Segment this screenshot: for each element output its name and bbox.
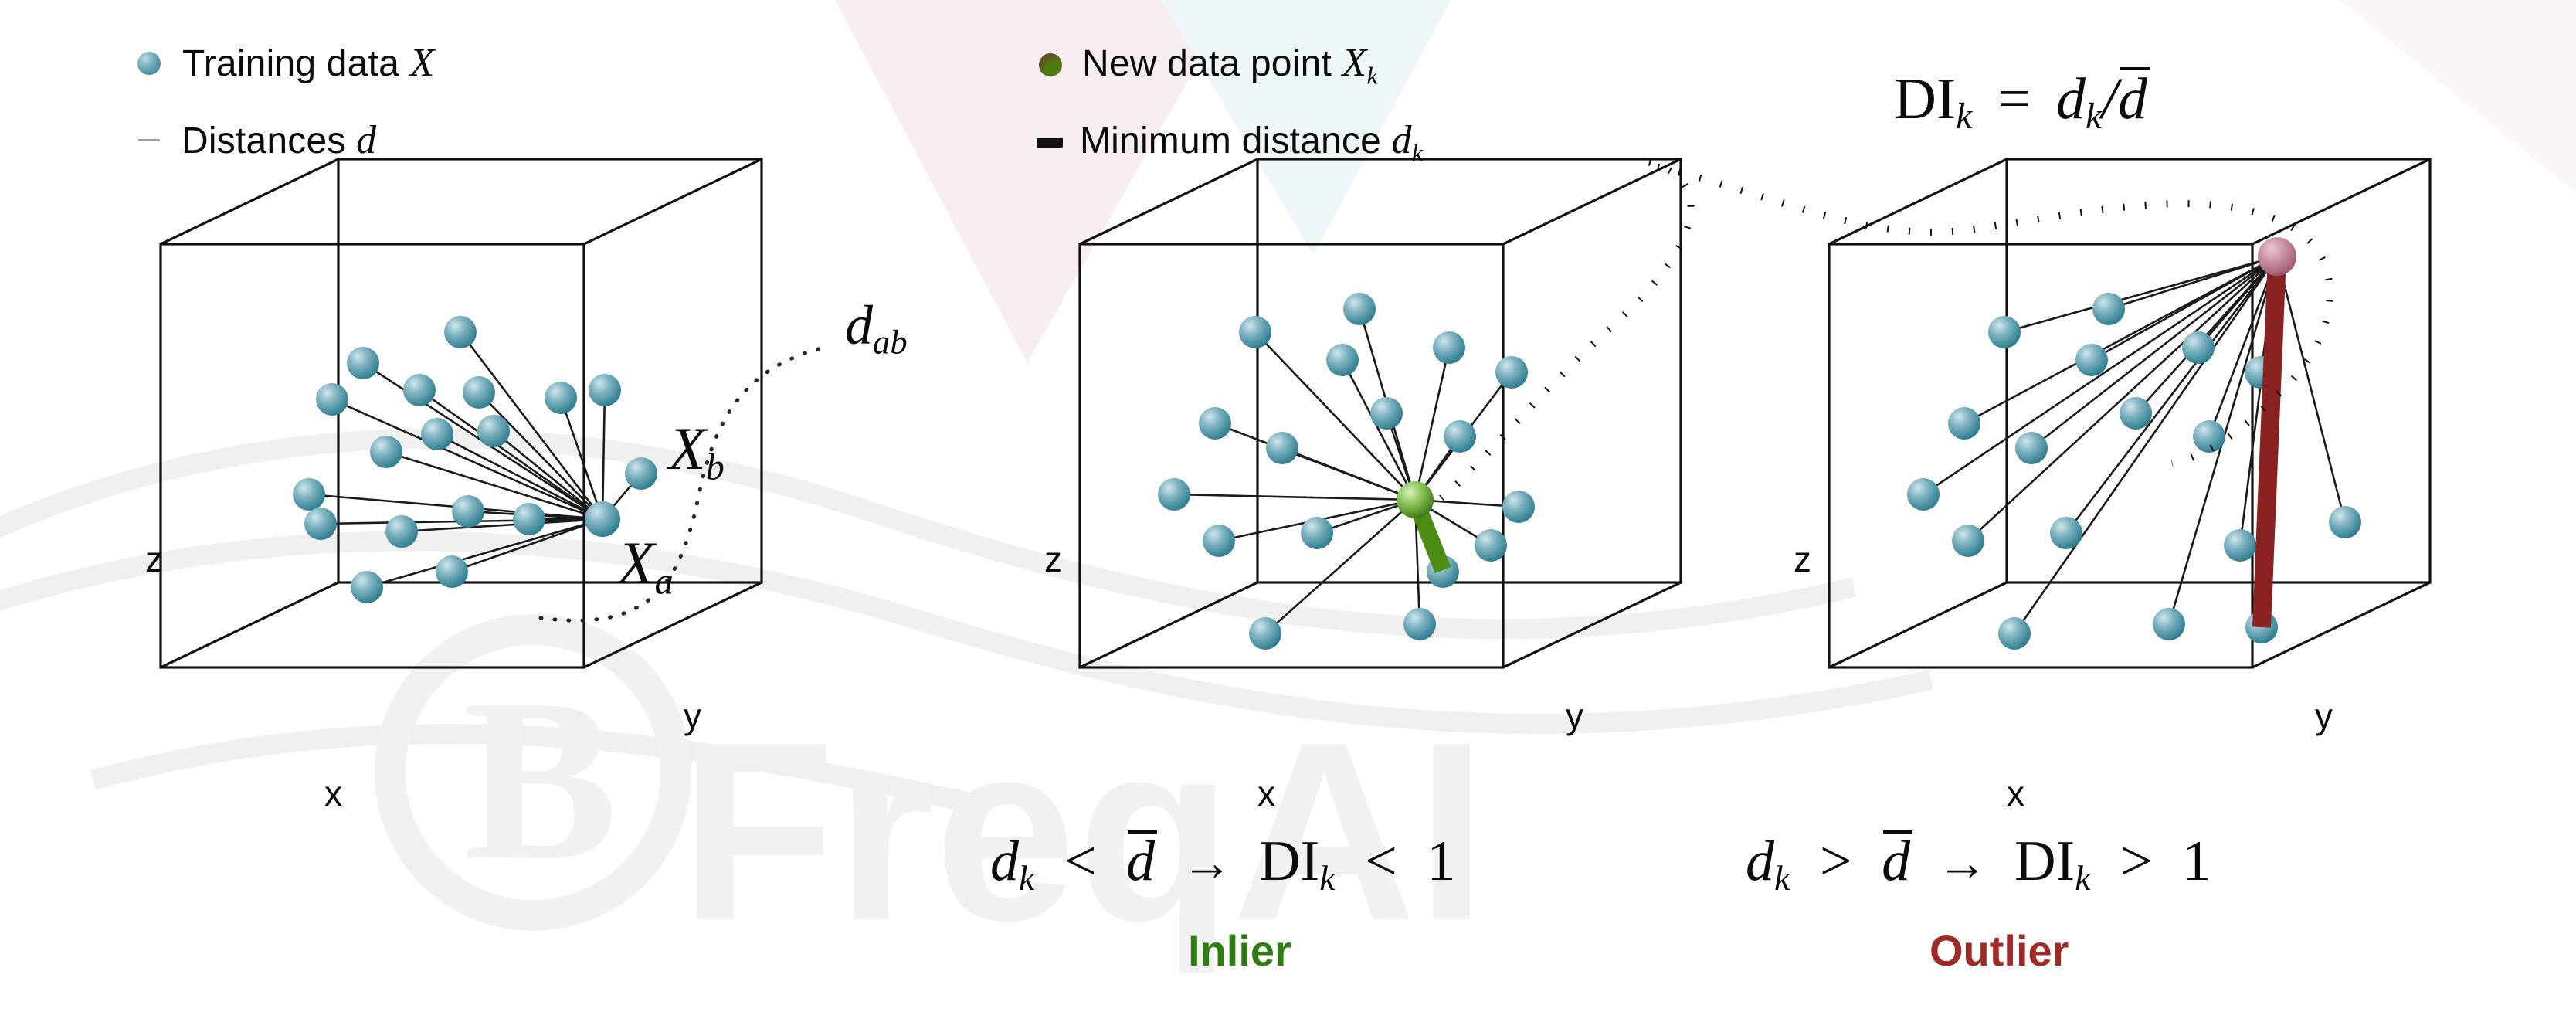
training-point (2329, 506, 2361, 538)
axis-label-y-panel3: y (2315, 695, 2333, 737)
training-point (1249, 617, 1281, 650)
training-point (2050, 517, 2082, 549)
training-point (347, 347, 379, 379)
training-point (1998, 617, 2031, 650)
training-point (589, 374, 621, 406)
training-point-xb (625, 457, 657, 490)
axis-label-y-panel2: y (1566, 695, 1583, 737)
figure-canvas: FreqAI B Training data X Distances d New… (0, 0, 2576, 1022)
training-point (385, 515, 418, 548)
training-point (293, 478, 325, 511)
training-point (1199, 407, 1231, 440)
training-point (304, 508, 337, 540)
training-point (2193, 420, 2225, 453)
training-point (2120, 397, 2152, 430)
label-xb: Xb (669, 419, 725, 487)
training-point (351, 571, 383, 603)
axis-label-z-panel1: z (145, 538, 163, 580)
training-point (1158, 478, 1190, 511)
training-points-panel2 (1158, 293, 1535, 650)
verdict-inlier: Inlier (1188, 925, 1291, 976)
training-point (370, 436, 402, 468)
training-point (2182, 331, 2215, 364)
training-point (2015, 432, 2048, 464)
training-point (1988, 316, 2021, 348)
training-point (1502, 491, 1535, 523)
training-point (2075, 344, 2108, 376)
axis-label-x-panel2: x (1257, 772, 1275, 814)
training-point (403, 374, 436, 406)
training-point (463, 376, 495, 409)
training-point (1433, 331, 1465, 364)
training-point (452, 495, 484, 528)
anchor-point-xa (585, 501, 620, 537)
training-point (436, 555, 468, 588)
axis-label-z-panel2: z (1044, 538, 1062, 580)
training-point (2224, 529, 2256, 562)
training-point (1495, 356, 1528, 389)
training-point (1326, 344, 1359, 376)
label-xa: Xa (618, 533, 674, 601)
training-point (1239, 316, 1271, 348)
training-point (1948, 407, 1980, 440)
training-point (1343, 293, 1376, 325)
formula-inlier: dk < d → DIk < 1 (990, 833, 1455, 896)
training-point (1403, 608, 1436, 640)
training-point (1475, 529, 1507, 562)
panel-outlier (1658, 159, 2430, 667)
training-point (316, 383, 348, 416)
training-point (2153, 608, 2185, 640)
axis-label-y-panel1: y (684, 695, 701, 737)
training-point (444, 316, 477, 348)
training-point (1907, 478, 1940, 511)
training-point (1370, 397, 1403, 430)
training-point (1301, 517, 1333, 549)
axis-label-z-panel3: z (1794, 538, 1811, 580)
training-point (477, 415, 510, 447)
training-point (421, 418, 453, 450)
axis-label-x-panel1: x (324, 772, 342, 814)
axis-label-x-panel3: x (2007, 772, 2024, 814)
verdict-outlier: Outlier (1929, 925, 2069, 976)
new-data-point-inlier (1397, 481, 1434, 518)
training-points-panel3 (1907, 293, 2361, 650)
training-point (513, 503, 545, 535)
panel-inlier (1080, 159, 1691, 667)
formula-outlier: dk > d → DIk > 1 (1746, 833, 2211, 896)
training-point (1203, 525, 1235, 557)
training-point (1266, 432, 1298, 464)
training-point (545, 382, 577, 414)
panel-training (161, 159, 830, 667)
new-data-point-outlier (2258, 237, 2296, 276)
training-point (1444, 420, 1476, 453)
training-point (2092, 293, 2125, 325)
training-point (1952, 525, 1984, 557)
